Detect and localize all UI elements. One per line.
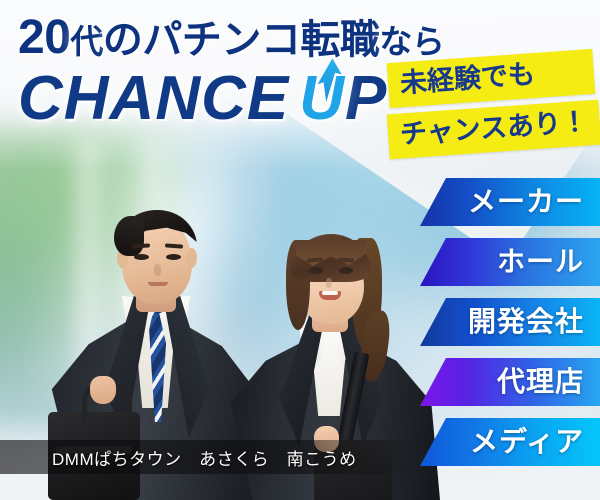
category-button-media[interactable]: メディア bbox=[420, 418, 600, 466]
category-label-hall: ホール bbox=[497, 248, 584, 276]
woman-eye-left bbox=[309, 267, 323, 274]
category-label-agency: 代理店 bbox=[497, 368, 584, 396]
credit-caption-text: DMMぱちタウン あさくら 南こうめ bbox=[0, 445, 357, 470]
advertisement-banner[interactable]: 20代のパチンコ転職なら CHANCEUP 未経験でも チャンスあり！ メーカー… bbox=[0, 0, 600, 500]
category-button-hall[interactable]: ホール bbox=[420, 238, 600, 286]
man-hair-side bbox=[114, 216, 144, 256]
category-button-maker[interactable]: メーカー bbox=[420, 178, 600, 226]
category-label-media: メディア bbox=[470, 428, 584, 456]
category-button-developer[interactable]: 開発会社 bbox=[420, 298, 600, 346]
man-hand bbox=[90, 376, 116, 404]
badge-chance: チャンスあり！ bbox=[386, 100, 600, 160]
man-eye-right bbox=[166, 254, 181, 260]
category-label-developer: 開発会社 bbox=[468, 308, 584, 336]
category-button-agency[interactable]: 代理店 bbox=[420, 358, 600, 406]
credit-caption-bar: DMMぱちタウン あさくら 南こうめ bbox=[0, 440, 420, 474]
highlight-badges: 未経験でも チャンスあり！ bbox=[388, 56, 594, 152]
category-label-maker: メーカー bbox=[468, 188, 584, 216]
category-list: メーカー ホール 開発会社 代理店 メディア bbox=[420, 178, 600, 478]
badge-inexperienced: 未経験でも bbox=[386, 49, 595, 108]
man-mouth bbox=[148, 282, 168, 286]
man-ear-right bbox=[186, 248, 197, 268]
woman-eye-right bbox=[339, 267, 353, 274]
man-nose bbox=[154, 264, 161, 276]
woman-nose bbox=[326, 278, 332, 288]
woman-teeth bbox=[322, 291, 338, 295]
man-eye-left bbox=[134, 254, 149, 260]
